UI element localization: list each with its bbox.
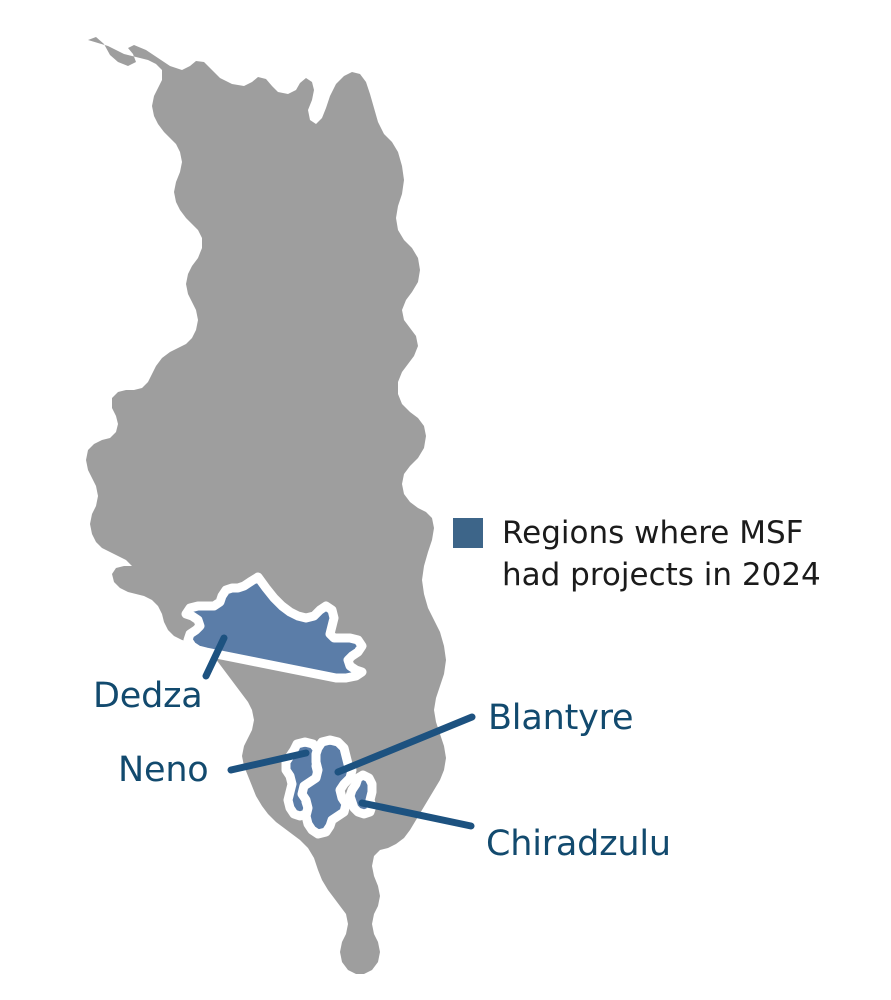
region-label-neno: Neno bbox=[118, 750, 209, 790]
legend-swatch bbox=[453, 518, 483, 548]
map-figure: Dedza Neno Blantyre Chiradzulu Regions w… bbox=[0, 0, 891, 1000]
region-label-blantyre: Blantyre bbox=[488, 698, 633, 738]
legend-label-line1: Regions where MSF bbox=[502, 515, 803, 551]
legend-label-line2: had projects in 2024 bbox=[502, 557, 821, 593]
malawi-map-svg: Dedza Neno Blantyre Chiradzulu Regions w… bbox=[0, 0, 891, 1000]
malawi-country-shape bbox=[86, 37, 446, 974]
region-label-dedza: Dedza bbox=[93, 676, 203, 716]
legend: Regions where MSF had projects in 2024 bbox=[453, 515, 821, 593]
region-label-chiradzulu: Chiradzulu bbox=[486, 824, 671, 864]
region-shape-chiradzulu[interactable] bbox=[350, 775, 372, 814]
